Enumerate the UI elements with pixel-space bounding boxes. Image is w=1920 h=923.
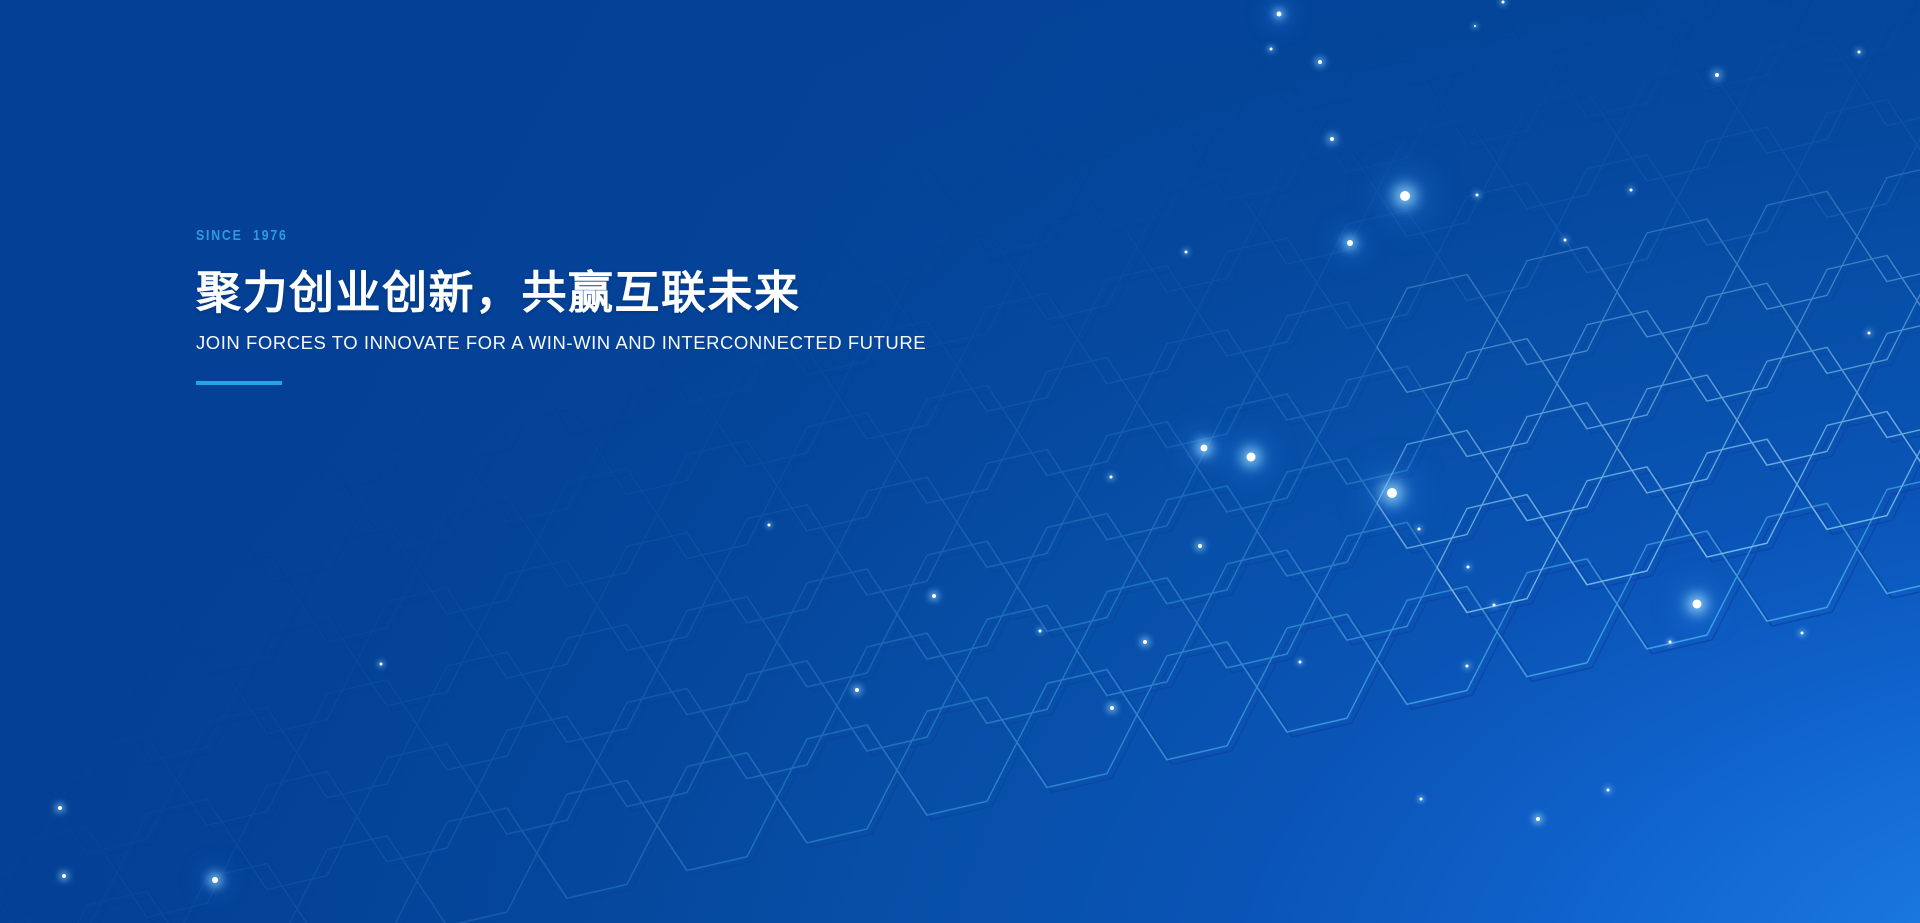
- hexagon-mesh-pattern: [0, 0, 1920, 923]
- hero-banner: SINCE 1976 聚力创业创新，共赢互联未来 JOIN FORCES TO …: [0, 0, 1920, 923]
- hero-headline: 聚力创业创新，共赢互联未来: [196, 269, 1096, 318]
- hero-text-block: SINCE 1976 聚力创业创新，共赢互联未来 JOIN FORCES TO …: [196, 228, 1096, 385]
- since-eyebrow-label: SINCE 1976: [196, 228, 934, 243]
- accent-divider-rule: [196, 381, 282, 385]
- hero-subheadline: JOIN FORCES TO INNOVATE FOR A WIN-WIN AN…: [196, 332, 1096, 354]
